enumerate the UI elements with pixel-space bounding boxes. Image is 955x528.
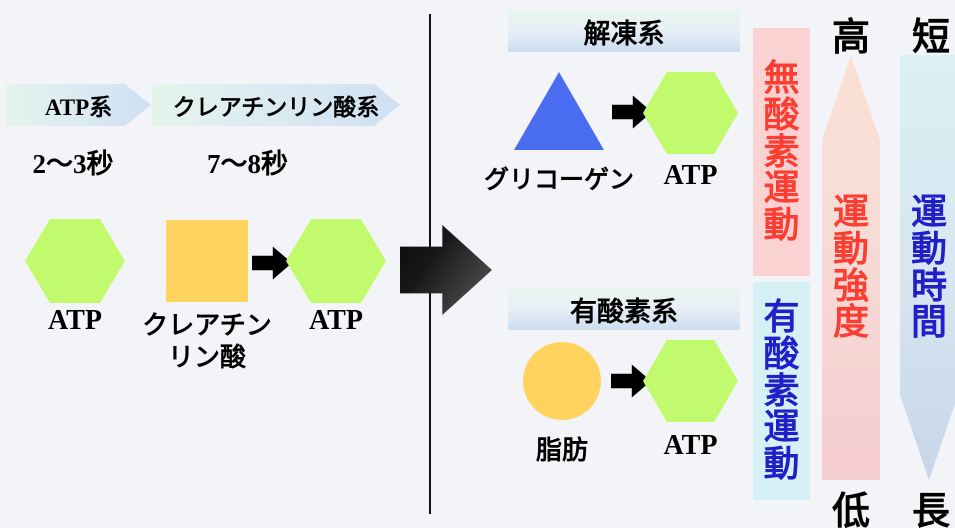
atp-hexagon-aerobic <box>643 340 738 422</box>
duration-atp: 2〜3秒 <box>8 142 138 181</box>
fat-label: 脂肪 <box>512 430 612 467</box>
duration-creatine: 7〜8秒 <box>175 142 320 181</box>
phase-banner-creatine-label: クレアチンリン酸系 <box>173 88 380 122</box>
duration-char-1: 動 <box>911 231 947 268</box>
intensity-bottom-label: 低 <box>820 480 882 528</box>
phase-banner-atp: ATP系 <box>6 84 151 126</box>
system-banner-aerobic: 有酸素系 <box>508 288 740 330</box>
atp-hexagon-left-label: ATP <box>25 305 125 337</box>
duration-bottom-label: 長 <box>900 480 955 528</box>
atp-hexagon-left-2 <box>286 219 386 303</box>
atp-hexagon-left <box>25 219 125 303</box>
intensity-char-2: 強 <box>833 268 869 305</box>
creatine-phosphate-label-line2: リン酸 <box>137 337 277 374</box>
fat-circle <box>523 342 601 420</box>
system-banner-glycolysis-label: 解凍系 <box>584 12 665 51</box>
intensity-top-label: 高 <box>820 6 882 61</box>
metabolic-bar-anaerobic-char-4: 動 <box>763 207 799 244</box>
duration-char-0: 運 <box>911 194 947 231</box>
intensity-arrow: 運 動 強 度 <box>822 55 880 480</box>
duration-char-3: 間 <box>911 304 947 341</box>
metabolic-bar-anaerobic-char-0: 無 <box>763 60 799 97</box>
metabolic-bar-aerobic-char-0: 有 <box>763 299 799 336</box>
metabolic-bar-aerobic-char-1: 酸 <box>763 336 799 373</box>
intensity-char-3: 度 <box>833 304 869 341</box>
duration-top-label: 短 <box>900 6 955 61</box>
duration-char-2: 時 <box>911 268 947 305</box>
glycogen-label: グリコーゲン <box>479 160 639 196</box>
metabolic-bar-anaerobic-char-3: 運 <box>763 170 799 207</box>
glycogen-triangle <box>514 72 604 150</box>
intensity-char-0: 運 <box>833 194 869 231</box>
atp-hexagon-aerobic-label: ATP <box>643 430 738 462</box>
metabolic-bar-aerobic-char-2: 素 <box>763 373 799 410</box>
intensity-char-1: 動 <box>833 231 869 268</box>
conversion-arrow-left <box>252 245 292 281</box>
phase-banner-atp-label: ATP系 <box>45 88 112 122</box>
metabolic-bar-aerobic-char-4: 動 <box>763 446 799 483</box>
transition-arrow <box>400 225 492 315</box>
creatine-phosphate-square <box>166 220 248 302</box>
phase-banner-creatine: クレアチンリン酸系 <box>152 84 400 126</box>
metabolic-bar-anaerobic-char-1: 酸 <box>763 97 799 134</box>
atp-hexagon-left-2-label: ATP <box>286 305 386 337</box>
diagram-canvas: ATP系 クレアチンリン酸系 2〜3秒 7〜8秒 ATP クレアチン リン酸 A… <box>0 0 955 528</box>
atp-hexagon-glycolysis <box>643 72 738 154</box>
metabolic-bar-aerobic: 有 酸 素 運 動 <box>753 282 810 500</box>
metabolic-bar-anaerobic: 無 酸 素 運 動 <box>753 28 810 276</box>
duration-arrow: 運 動 時 間 <box>900 55 955 480</box>
metabolic-bar-anaerobic-char-2: 素 <box>763 134 799 171</box>
metabolic-bar-aerobic-char-3: 運 <box>763 409 799 446</box>
system-banner-aerobic-label: 有酸素系 <box>570 290 678 329</box>
system-banner-glycolysis: 解凍系 <box>508 10 740 52</box>
atp-hexagon-glycolysis-label: ATP <box>643 160 738 192</box>
